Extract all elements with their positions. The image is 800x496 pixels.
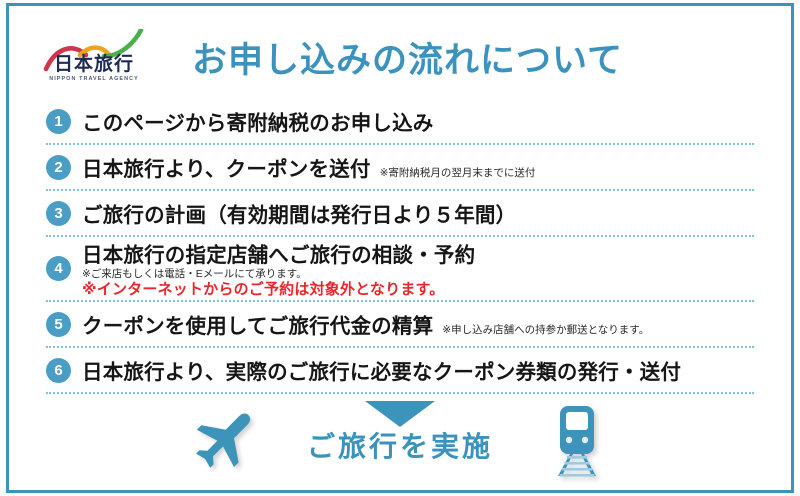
step-number-badge: 4 bbox=[46, 256, 71, 281]
steps-list: 1 このページから寄附納税のお申し込み 2 日本旅行より、クーポンを送付 ※寄附… bbox=[46, 99, 754, 394]
train-icon bbox=[548, 406, 606, 478]
step-row-6: 6 日本旅行より、実際のご旅行に必要なクーポン券類の発行・送付 bbox=[46, 348, 754, 394]
page-title: お申し込みの流れについて bbox=[192, 32, 623, 83]
step-text: 日本旅行の指定店舗へご旅行の相談・予約 bbox=[82, 238, 475, 268]
footer-text: ご旅行を実施 bbox=[307, 425, 493, 465]
step-text: 日本旅行より、実際のご旅行に必要なクーポン券類の発行・送付 bbox=[82, 355, 681, 385]
step-body: このページから寄附納税のお申し込み bbox=[82, 106, 754, 136]
step-note: ※寄附納税月の翌月末までに送付 bbox=[380, 165, 536, 180]
step-row-2: 2 日本旅行より、クーポンを送付 ※寄附納税月の翌月末までに送付 bbox=[46, 145, 754, 191]
step-body: クーポンを使用してご旅行代金の精算 ※申し込み店舗への持参か郵送となります。 bbox=[82, 309, 754, 339]
airplane-icon-wrap bbox=[180, 411, 266, 473]
step-row-5: 5 クーポンを使用してご旅行代金の精算 ※申し込み店舗への持参か郵送となります。 bbox=[46, 302, 754, 348]
step-number-badge: 6 bbox=[46, 358, 71, 383]
airplane-icon bbox=[190, 411, 256, 473]
step-text: 日本旅行より、クーポンを送付 bbox=[82, 152, 371, 182]
step-body: 日本旅行より、実際のご旅行に必要なクーポン券類の発行・送付 bbox=[82, 355, 754, 385]
step-row-3: 3 ご旅行の計画（有効期間は発行日より５年間） bbox=[46, 191, 754, 237]
nippon-travel-agency-logo: 日本旅行 NIPPON TRAVEL AGENCY bbox=[40, 29, 148, 85]
logo-wordmark: 日本旅行 bbox=[46, 55, 142, 74]
step-number-badge: 1 bbox=[46, 109, 71, 134]
logo-subtext: NIPPON TRAVEL AGENCY bbox=[42, 76, 146, 82]
step-number-badge: 3 bbox=[46, 201, 71, 226]
footer: ご旅行を実施 bbox=[46, 399, 754, 485]
step-row-4: 4 日本旅行の指定店舗へご旅行の相談・予約 ※ご来店もしくは電話・Eメールにて承… bbox=[46, 237, 754, 302]
step-number-badge: 2 bbox=[46, 155, 71, 180]
step-body: ご旅行の計画（有効期間は発行日より５年間） bbox=[82, 198, 754, 228]
step-text: ご旅行の計画（有効期間は発行日より５年間） bbox=[82, 198, 516, 228]
step-note: ※ご来店もしくは電話・Eメールにて承ります。 bbox=[82, 268, 754, 281]
flow-infographic-card: 日本旅行 NIPPON TRAVEL AGENCY お申し込みの流れについて 1… bbox=[0, 0, 800, 496]
step-warning: ※インターネットからのご予約は対象外となります。 bbox=[82, 281, 754, 300]
triangle-down-icon bbox=[365, 401, 435, 427]
step-text: このページから寄附納税のお申し込み bbox=[82, 106, 434, 136]
step-note: ※申し込み店舗への持参か郵送となります。 bbox=[442, 322, 649, 337]
step-body: 日本旅行より、クーポンを送付 ※寄附納税月の翌月末までに送付 bbox=[82, 152, 754, 182]
step-text: クーポンを使用してご旅行代金の精算 bbox=[82, 309, 433, 339]
header: 日本旅行 NIPPON TRAVEL AGENCY お申し込みの流れについて bbox=[40, 24, 760, 90]
train-icon-wrap bbox=[534, 406, 620, 478]
step-number-badge: 5 bbox=[46, 312, 71, 337]
footer-center: ご旅行を実施 bbox=[266, 399, 534, 485]
step-row-1: 1 このページから寄附納税のお申し込み bbox=[46, 99, 754, 145]
step-body: 日本旅行の指定店舗へご旅行の相談・予約 ※ご来店もしくは電話・Eメールにて承りま… bbox=[82, 238, 754, 300]
